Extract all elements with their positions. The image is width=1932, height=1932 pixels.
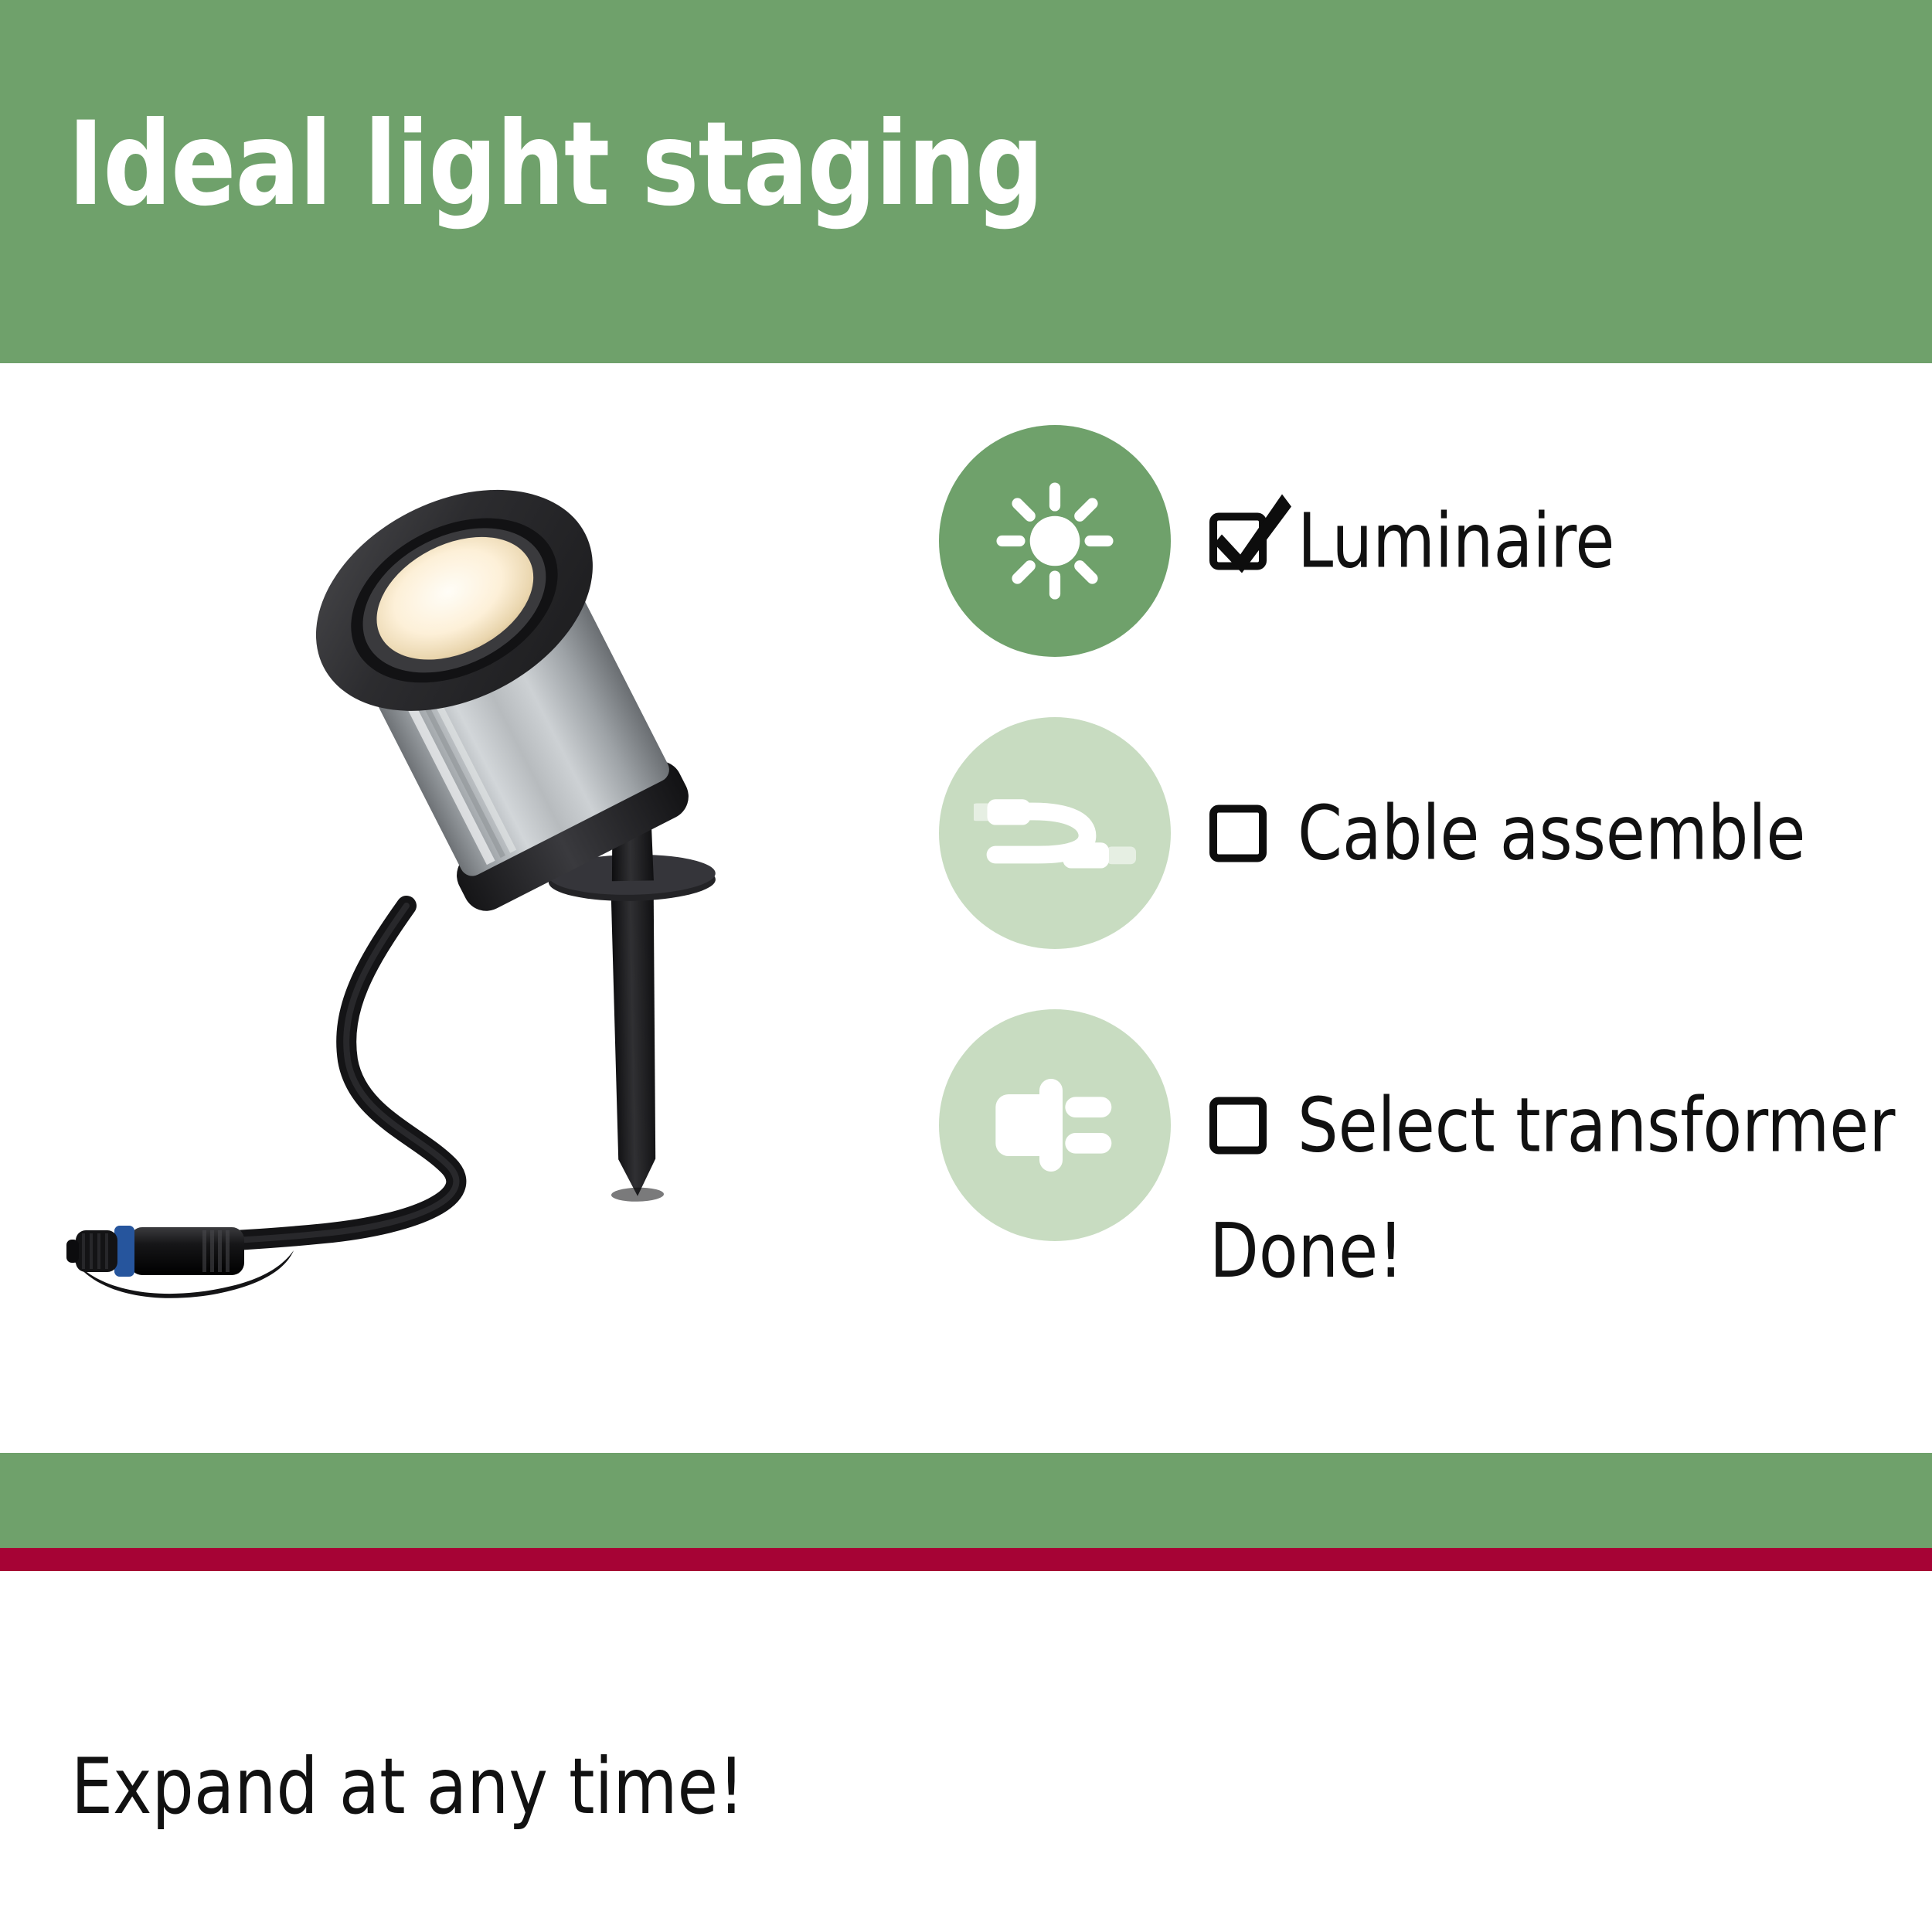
- checklist-label-group-cable-assemble[interactable]: Cable assemble: [1209, 796, 1832, 871]
- checklist-item-cable-assemble[interactable]: Cable assemble: [939, 717, 1932, 949]
- checklist-item-select-transformer[interactable]: Select transformer: [939, 1009, 1932, 1241]
- header-band: Ideal light staging: [0, 0, 1932, 363]
- checklist-label-cable-assemble: Cable assemble: [1298, 796, 1805, 871]
- product-image: [15, 386, 927, 1298]
- done-label: Done!: [1209, 1213, 1403, 1288]
- footer-red-band: [0, 1548, 1932, 1571]
- plug-icon: [978, 1048, 1132, 1202]
- plug-icon-circle: [939, 1009, 1171, 1241]
- checklist: Luminaire Cable assemble: [939, 425, 1932, 1301]
- cable-icon: [974, 752, 1136, 914]
- footer-green-band: [0, 1453, 1932, 1548]
- page-title: Ideal light staging: [68, 107, 1043, 223]
- checklist-label-group-select-transformer[interactable]: Select transformer: [1209, 1088, 1927, 1163]
- checkmark-icon: [1205, 486, 1298, 579]
- sun-icon-circle: [939, 425, 1171, 657]
- checklist-label-group-luminaire[interactable]: Luminaire: [1209, 504, 1631, 579]
- checklist-label-select-transformer: Select transformer: [1298, 1088, 1895, 1163]
- checkbox-cable-assemble[interactable]: [1209, 804, 1267, 862]
- sun-icon: [981, 468, 1128, 614]
- footer-caption: Expand at any time!: [71, 1748, 744, 1825]
- checklist-item-luminaire[interactable]: Luminaire: [939, 425, 1932, 657]
- checklist-label-luminaire: Luminaire: [1298, 504, 1614, 579]
- checkbox-luminaire[interactable]: [1209, 512, 1267, 570]
- cable-icon-circle: [939, 717, 1171, 949]
- main-content: Luminaire Cable assemble: [0, 363, 1932, 1453]
- checkbox-select-transformer[interactable]: [1209, 1097, 1267, 1154]
